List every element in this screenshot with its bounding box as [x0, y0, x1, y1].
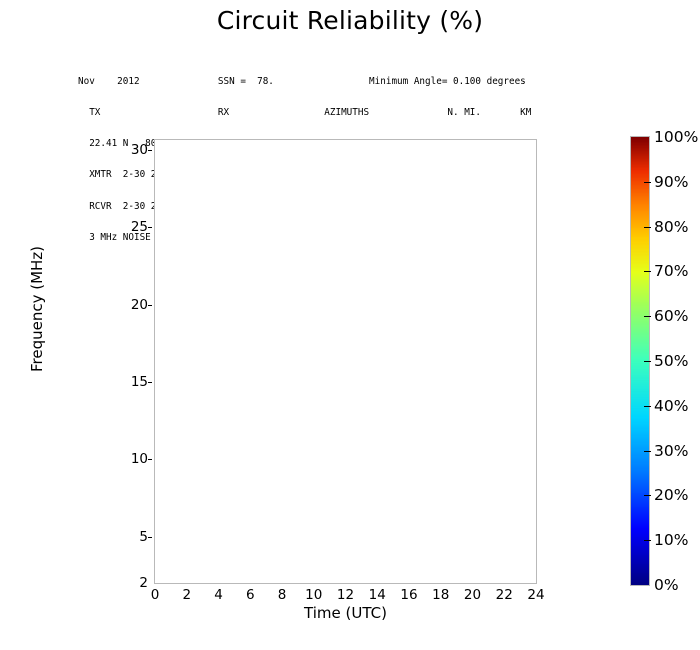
colorbar-tick-label: 90% [654, 173, 688, 191]
y-tick-label: 30 [108, 142, 148, 158]
x-tick-label: 22 [489, 587, 519, 603]
header-line-1: TX RX AZIMUTHS N. MI. KM [78, 108, 598, 118]
colorbar-tick-label: 20% [654, 486, 688, 504]
x-tick-label: 24 [521, 587, 551, 603]
y-tick-mark [148, 305, 152, 306]
x-tick-label: 8 [267, 587, 297, 603]
plot-frame [154, 139, 537, 584]
x-tick-label: 10 [299, 587, 329, 603]
colorbar-tick-label: 70% [654, 262, 688, 280]
y-tick-mark [148, 382, 152, 383]
colorbar-tick-mark [644, 540, 651, 541]
x-tick-label: 4 [204, 587, 234, 603]
y-axis-label: Frequency (MHz) [28, 179, 46, 439]
y-tick-label: 5 [108, 529, 148, 545]
colorbar-tick-mark [644, 227, 651, 228]
colorbar-tick-mark [644, 495, 651, 496]
y-tick-mark [148, 150, 152, 151]
x-tick-label: 0 [140, 587, 170, 603]
x-tick-label: 14 [362, 587, 392, 603]
x-tick-label: 12 [331, 587, 361, 603]
x-tick-label: 6 [235, 587, 265, 603]
colorbar-tick-label: 0% [654, 576, 679, 594]
colorbar-tick-mark [644, 451, 651, 452]
colorbar-tick-mark [644, 182, 651, 183]
colorbar-tick-mark [644, 271, 651, 272]
colorbar-tick-mark [644, 406, 651, 407]
y-tick-mark [148, 537, 152, 538]
y-tick-label: 15 [108, 374, 148, 390]
x-tick-label: 18 [426, 587, 456, 603]
y-tick-label: 25 [108, 219, 148, 235]
x-axis-ticks: 024681012141618202224 [0, 587, 700, 607]
colorbar-tick-label: 80% [654, 218, 688, 236]
y-tick-mark [148, 459, 152, 460]
colorbar-tick-label: 60% [654, 307, 688, 325]
x-tick-label: 16 [394, 587, 424, 603]
y-tick-label: 10 [108, 451, 148, 467]
y-tick-label: 20 [108, 297, 148, 313]
colorbar-tick-label: 10% [654, 531, 688, 549]
colorbar-tick-label: 50% [654, 352, 688, 370]
y-tick-mark [148, 227, 152, 228]
colorbar-tick-label: 100% [654, 128, 698, 146]
x-tick-label: 2 [172, 587, 202, 603]
colorbar-ticks: 0%10%20%30%40%50%60%70%80%90%100% [630, 0, 700, 650]
colorbar-tick-label: 40% [654, 397, 688, 415]
colorbar-tick-label: 30% [654, 442, 688, 460]
figure-root: Circuit Reliability (%) Nov 2012 SSN = 7… [0, 0, 700, 650]
x-tick-label: 20 [458, 587, 488, 603]
y-axis-ticks: 510152025302 [104, 0, 148, 650]
colorbar-tick-mark [644, 316, 651, 317]
header-line-0: Nov 2012 SSN = 78. Minimum Angle= 0.100 … [78, 77, 598, 87]
colorbar-tick-mark [644, 361, 651, 362]
